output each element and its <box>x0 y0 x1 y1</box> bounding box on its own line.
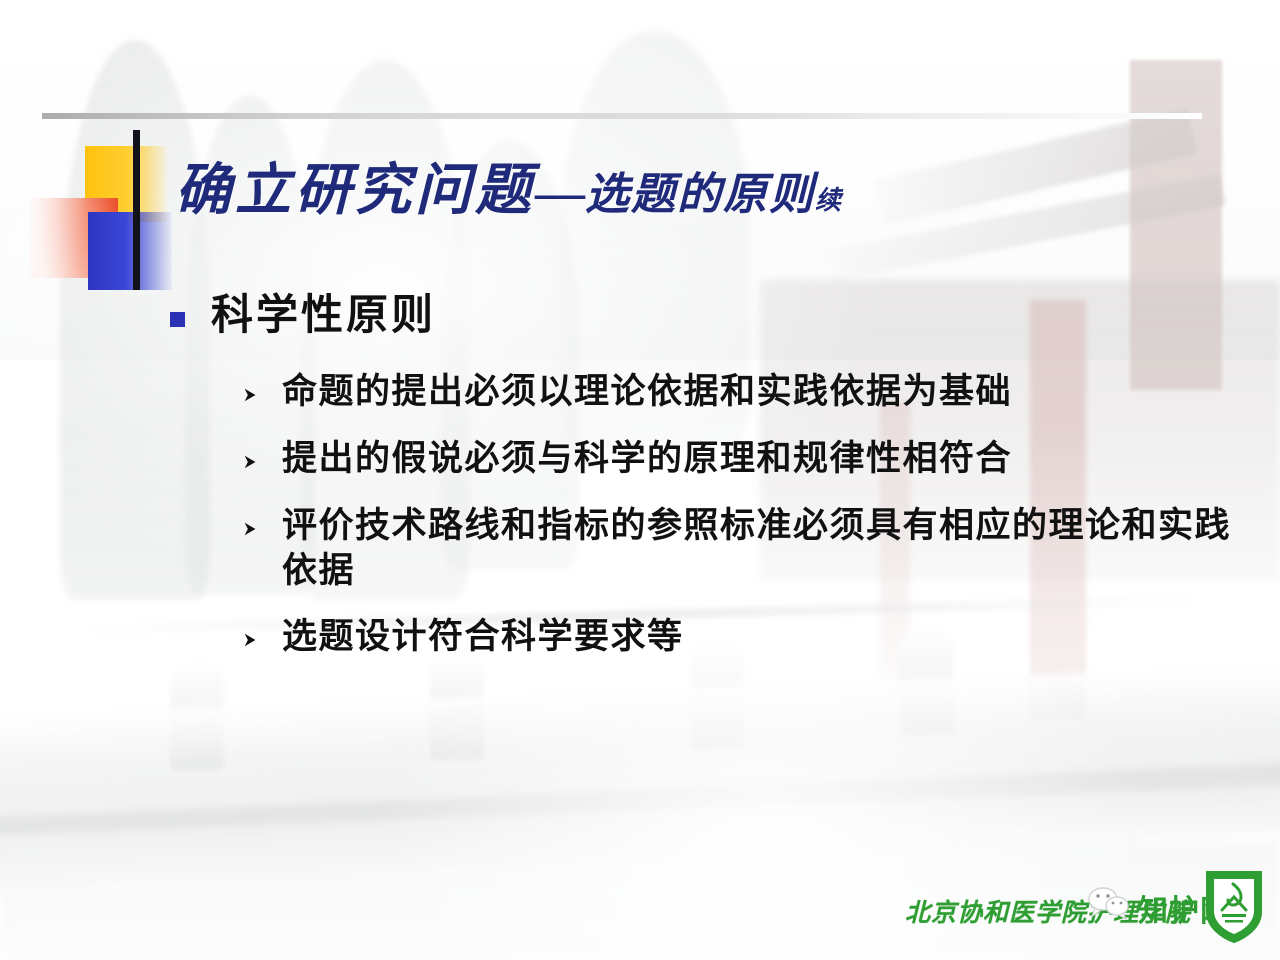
slide-body: 科学性原则 命题的提出必须以理论依据和实践依据为基础 提出的假说必须与科学的原理… <box>170 292 1260 682</box>
square-bullet-icon <box>170 312 185 327</box>
bullet-item-level1: 科学性原则 <box>170 292 1260 340</box>
bullet-level1-label: 科学性原则 <box>211 292 436 340</box>
title-continued-marker: 续 <box>815 186 842 215</box>
presentation-slide: 确立研究问题—选题的原则续 科学性原则 命题的提出必须以理论依据和实践依据为基础… <box>0 0 1280 960</box>
bullet-item-level2: 命题的提出必须以理论依据和实践依据为基础 <box>242 370 1260 415</box>
deco-blue-square <box>88 212 172 290</box>
deco-vertical-bar <box>133 130 140 290</box>
bullet-item-level2: 提出的假说必须与科学的原理和规律性相符合 <box>242 437 1260 482</box>
wechat-bubble-icon <box>1086 884 1130 920</box>
arrow-bullet-icon <box>242 386 260 404</box>
title-subtitle: 选题的原则 <box>585 170 815 219</box>
bullet-level2-label: 命题的提出必须以理论依据和实践依据为基础 <box>282 370 1012 415</box>
arrow-bullet-icon <box>242 520 260 538</box>
bullet-level2-label: 选题设计符合科学要求等 <box>282 615 684 660</box>
bullet-item-level2: 评价技术路线和指标的参照标准必须具有相应的理论和实践依据 <box>242 504 1260 594</box>
page-title: 确立研究问题—选题的原则续 <box>175 145 842 226</box>
bullet-item-level2: 选题设计符合科学要求等 <box>242 615 1260 660</box>
arrow-bullet-icon <box>242 453 260 471</box>
arrow-bullet-icon <box>242 631 260 649</box>
title-main: 确立研究问题 <box>175 160 535 222</box>
bullet-level2-label: 评价技术路线和指标的参照标准必须具有相应的理论和实践依据 <box>282 504 1260 594</box>
title-dash: — <box>535 164 585 220</box>
bullet-level2-label: 提出的假说必须与科学的原理和规律性相符合 <box>282 437 1012 482</box>
green-shield-logo-icon <box>1203 866 1265 944</box>
